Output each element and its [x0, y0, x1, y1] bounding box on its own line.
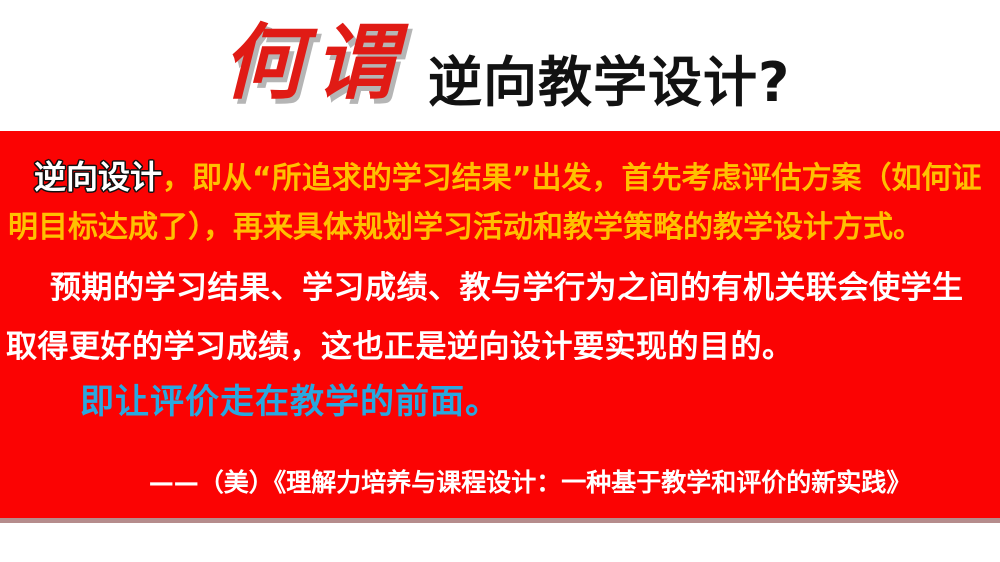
red-content-panel: 逆向设计，即从“所追求的学习结果”出发，首先考虑评估方案（如何证明目标达成了），…: [0, 131, 1000, 518]
title-calligraphy-text: 何谓: [222, 22, 406, 104]
definition-term: 逆向设计: [34, 158, 162, 196]
bottom-white-margin: [0, 523, 1000, 562]
title-band: 何谓 逆向教学设计?: [0, 0, 1000, 131]
source-attribution: ——（美）《理解力培养与课程设计：一种基于教学和评价的新实践》: [0, 468, 1000, 498]
definition-paragraph: 逆向设计，即从“所追求的学习结果”出发，首先考虑评估方案（如何证明目标达成了），…: [8, 153, 992, 252]
panel-inner: 逆向设计，即从“所追求的学习结果”出发，首先考虑评估方案（如何证明目标达成了），…: [0, 131, 1000, 518]
key-statement: 即让评价走在教学的前面。: [0, 382, 1000, 423]
slide-canvas: 何谓 逆向教学设计? 逆向设计，即从“所追求的学习结果”出发，首先考虑评估方案（…: [0, 0, 1000, 562]
rationale-paragraph: 预期的学习结果、学习成绩、教与学行为之间的有机关联会使学生取得更好的学习成绩，这…: [6, 259, 994, 377]
page-title: 逆向教学设计?: [428, 56, 790, 110]
